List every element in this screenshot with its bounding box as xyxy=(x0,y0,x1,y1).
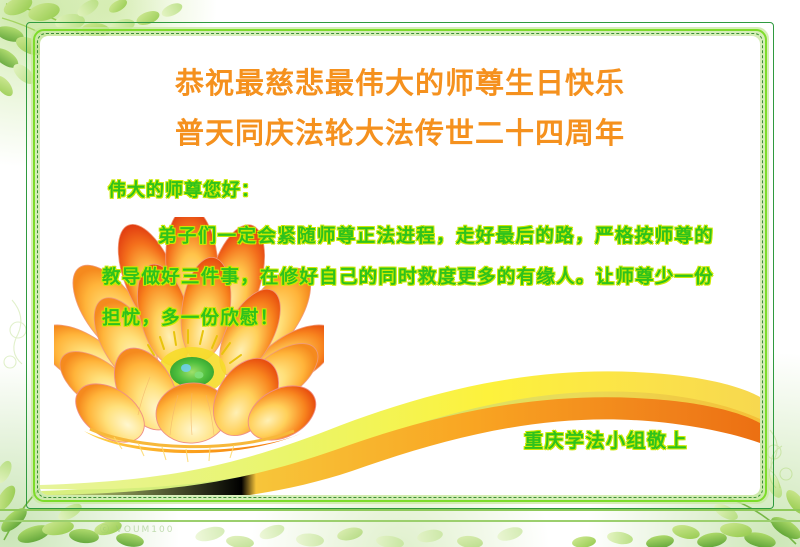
lotus-base xyxy=(84,431,302,453)
salutation: 伟大的师尊您好： xyxy=(108,176,714,202)
title-block: 恭祝最慈悲最伟大的师尊生日快乐 普天同庆法轮大法传世二十四周年 xyxy=(40,58,760,158)
signature: 重庆学法小组敬上 xyxy=(524,426,688,453)
letter-body: 伟大的师尊您好： 弟子们一定会紧随师尊正法进程，走好最后的路，严格按师尊的教导做… xyxy=(102,176,714,339)
lotus-stamen xyxy=(139,330,245,411)
wave-ribbon xyxy=(40,335,760,495)
bottom-rule-upper xyxy=(0,509,800,511)
title-line-1: 恭祝最慈悲最伟大的师尊生日快乐 xyxy=(40,58,760,108)
letter-paragraph: 弟子们一定会紧随师尊正法进程，走好最后的路，严格按师尊的教导做好三件事，在修好自… xyxy=(102,216,714,339)
card-canvas: 恭祝最慈悲最伟大的师尊生日快乐 普天同庆法轮大法传世二十四周年 伟大的师尊您好：… xyxy=(40,36,760,495)
watermark: ⓒ VOUM100 xyxy=(100,522,174,535)
title-line-2: 普天同庆法轮大法传世二十四周年 xyxy=(40,108,760,158)
greeting-card: 恭祝最慈悲最伟大的师尊生日快乐 普天同庆法轮大法传世二十四周年 伟大的师尊您好：… xyxy=(0,0,800,547)
